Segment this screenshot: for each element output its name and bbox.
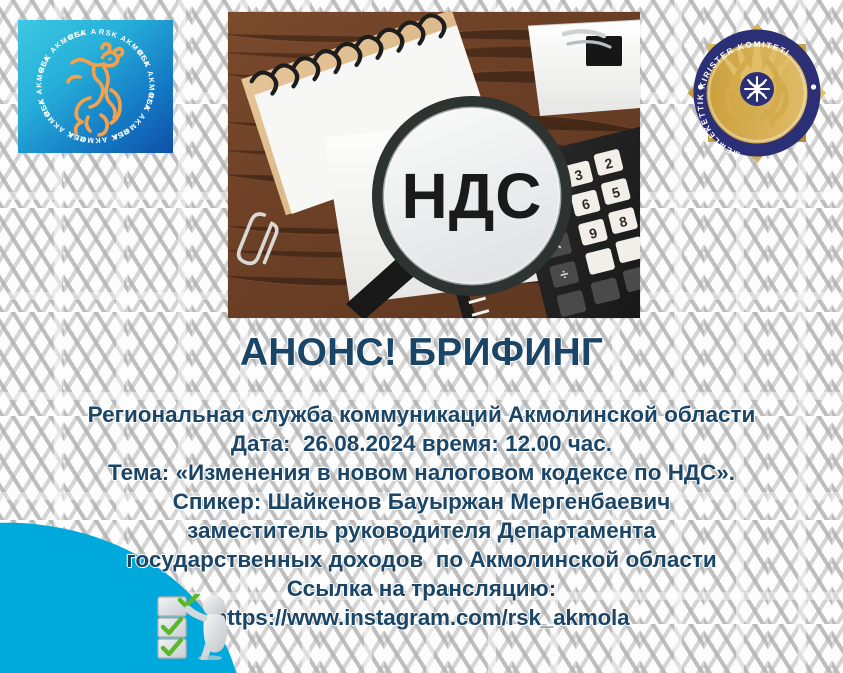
vat-label-ndc: НДС (401, 160, 542, 232)
paper-sheet-right (528, 20, 640, 116)
body-line-position-2: государственных доходов по Акмолинской о… (0, 545, 843, 574)
body-line-organization: Региональная служба коммуникаций Акмолин… (0, 400, 843, 429)
state-revenue-committee-emblem: MEMLEKETTIK KIRISTER KOMITETI (684, 18, 830, 168)
broadcast-link[interactable]: https://www.instagram.com/rsk_akmola (0, 603, 843, 632)
shanyrak-medallion (740, 72, 774, 106)
body-line-date-time: Дата: 26.08.2024 время: 12.00 час. (0, 429, 843, 458)
body-line-speaker: Спикер: Шайкенов Бауыржан Мергенбаевич (0, 487, 843, 516)
checkmark-in-progress (180, 594, 198, 606)
body-line-position-1: заместитель руководителя Департамента (0, 516, 843, 545)
humanoid-figure (188, 595, 227, 660)
checkbox-3 (158, 639, 186, 658)
checklist-3d-figure (152, 594, 238, 660)
announcement-body: Региональная служба коммуникаций Акмолин… (0, 400, 843, 632)
body-line-stream-label: Ссылка на трансляцию: (0, 574, 843, 603)
rsk-akmola-logo: RSK AKMOLA RSK AKMOLA RSK AKMOLA RSK AKM… (18, 20, 173, 153)
announcement-poster: RSK AKMOLA RSK AKMOLA RSK AKMOLA RSK AKM… (0, 0, 843, 673)
checkbox-stack (158, 594, 198, 658)
vat-magnifier-photo: + − × ÷ 3 2 6 5 9 8 (228, 12, 640, 318)
checkbox-2 (158, 618, 186, 637)
body-line-topic: Тема: «Изменения в новом налоговом кодек… (0, 458, 843, 487)
page-title: АНОНС! БРИФИНГ (0, 331, 843, 375)
